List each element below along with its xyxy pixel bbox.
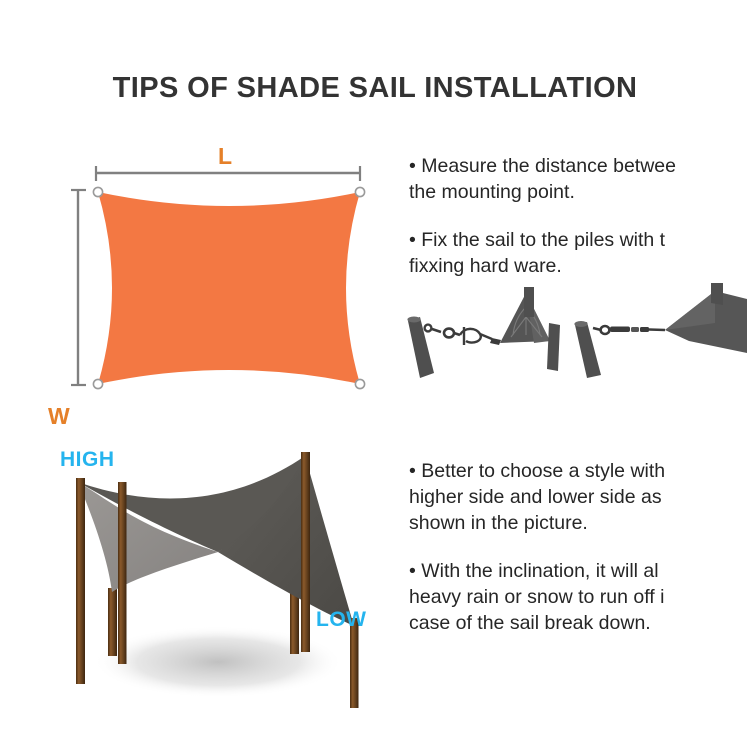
post bbox=[575, 322, 601, 378]
bullet-line: • Measure the distance betwee bbox=[409, 153, 750, 179]
post-back-left bbox=[108, 588, 117, 656]
hardware-illustrations bbox=[400, 283, 750, 383]
hardware-pole-carabiner-triangle-sail-icon bbox=[400, 283, 575, 378]
high-label: HIGH bbox=[60, 448, 115, 472]
infographic-page: TIPS OF SHADE SAIL INSTALLATION bbox=[0, 0, 750, 750]
bullet-choose-style-high-low: • Better to choose a style with higher s… bbox=[409, 458, 750, 536]
bullet-line: case of the sail break down. bbox=[409, 610, 750, 636]
post-top bbox=[407, 317, 420, 323]
sail-svg bbox=[60, 140, 400, 400]
post-front-left bbox=[118, 482, 127, 664]
bottom-bullet-list: • Better to choose a style with higher s… bbox=[409, 458, 750, 658]
mount-post-top bbox=[711, 283, 723, 305]
bullet-line: heavy rain or snow to run off i bbox=[409, 584, 750, 610]
turnbuckle bbox=[460, 327, 492, 345]
mount-post-right bbox=[524, 287, 534, 317]
hardware-pole-turnbuckle-sail-icon bbox=[565, 283, 750, 378]
canopy-svg bbox=[22, 430, 412, 720]
bullet-line: • Fix the sail to the piles with t bbox=[409, 227, 750, 253]
low-label: LOW bbox=[316, 608, 366, 632]
bullet-line: • With the inclination, it will al bbox=[409, 558, 750, 584]
sail-body bbox=[98, 192, 360, 384]
bullet-inclination-runoff: • With the inclination, it will al heavy… bbox=[409, 558, 750, 636]
grommet-top-right bbox=[355, 187, 364, 196]
connector-plate bbox=[490, 338, 501, 345]
post-high-right bbox=[301, 452, 310, 652]
bullet-fix-sail-to-piles: • Fix the sail to the piles with t fixxi… bbox=[409, 227, 750, 279]
grommet-top-left bbox=[93, 187, 102, 196]
shackle bbox=[593, 326, 609, 334]
mount-post-bottom-right bbox=[547, 323, 560, 371]
bullet-measure-distance: • Measure the distance betwee the mounti… bbox=[409, 153, 750, 205]
top-section: L W • Measure the distance betwee the mo… bbox=[0, 135, 750, 410]
grommet-bottom-left bbox=[93, 379, 102, 388]
cable bbox=[649, 330, 665, 331]
eye-bolt bbox=[425, 325, 432, 332]
post-top bbox=[574, 321, 587, 327]
post-high-left bbox=[76, 478, 85, 684]
top-bullet-list: • Measure the distance betwee the mounti… bbox=[409, 153, 750, 301]
width-dimension-line bbox=[71, 190, 86, 385]
grommet-bottom-right bbox=[355, 379, 364, 388]
length-label: L bbox=[218, 143, 232, 170]
rectangular-shade-sail-diagram bbox=[60, 140, 400, 400]
bullet-line: the mounting point. bbox=[409, 179, 750, 205]
carabiner bbox=[432, 329, 460, 338]
bullet-line: • Better to choose a style with bbox=[409, 458, 750, 484]
turnbuckle-body bbox=[610, 327, 649, 333]
bullet-line: fixxing hard ware. bbox=[409, 253, 750, 279]
bullet-line: shown in the picture. bbox=[409, 510, 750, 536]
bullet-line: higher side and lower side as bbox=[409, 484, 750, 510]
page-title: TIPS OF SHADE SAIL INSTALLATION bbox=[0, 72, 750, 105]
inclined-canopy-diagram bbox=[22, 430, 412, 720]
